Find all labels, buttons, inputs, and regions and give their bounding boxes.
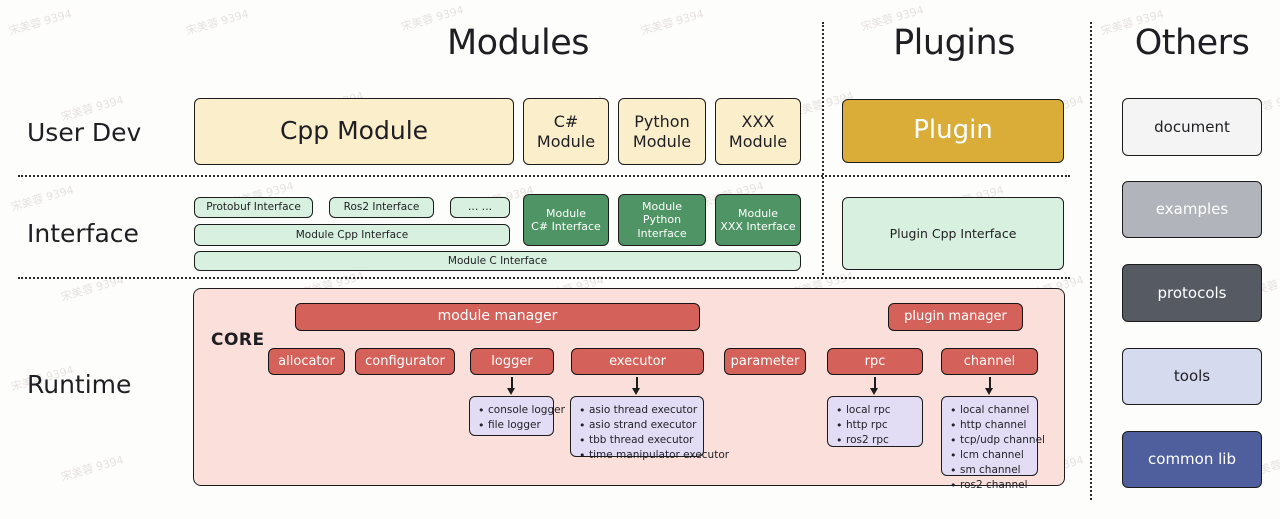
list-item: tcp/udp channel <box>948 433 1029 448</box>
list-item: asio thread executor <box>577 403 695 418</box>
list-item: local rpc <box>834 403 914 418</box>
xxx-module-box[interactable]: XXX Module <box>715 98 801 165</box>
watermark: 宋美蓉 9394 <box>9 181 75 214</box>
horizontal-divider-interface-runtime <box>18 277 1070 279</box>
list-item: http channel <box>948 418 1029 433</box>
module-csharp-interface-line1: Module <box>546 207 586 220</box>
module-cpp-interface-box[interactable]: Module Cpp Interface <box>194 224 510 246</box>
ellipsis-interface-box[interactable]: … … <box>450 197 510 218</box>
protobuf-interface-box[interactable]: Protobuf Interface <box>194 197 313 218</box>
list-item: lcm channel <box>948 448 1029 463</box>
csharp-module-label-line1: C# <box>554 112 579 131</box>
module-python-interface-box[interactable]: Module Python Interface <box>618 194 706 246</box>
module-xxx-interface-line2: XXX Interface <box>720 220 795 233</box>
configurator-box[interactable]: configurator <box>355 348 455 375</box>
ros2-interface-box[interactable]: Ros2 Interface <box>329 197 434 218</box>
module-c-interface-box[interactable]: Module C Interface <box>194 251 801 271</box>
list-item: time manipulator executor <box>577 448 695 463</box>
list-item: console logger <box>476 403 545 418</box>
horizontal-divider-userdev-interface <box>18 175 1070 177</box>
plugin-box[interactable]: Plugin <box>842 99 1064 163</box>
others-tools-box[interactable]: tools <box>1122 348 1262 405</box>
module-python-interface-line2: Python Interface <box>637 213 686 239</box>
module-python-interface-line1: Module <box>642 200 682 213</box>
module-csharp-interface-box[interactable]: Module C# Interface <box>523 194 609 246</box>
executor-box[interactable]: executor <box>571 348 704 375</box>
watermark: 宋美蓉 9394 <box>59 451 125 484</box>
column-heading-plugins: Plugins <box>838 23 1070 63</box>
list-item: file logger <box>476 418 545 433</box>
parameter-box[interactable]: parameter <box>724 348 806 375</box>
column-heading-modules: Modules <box>348 23 688 63</box>
python-module-box[interactable]: Python Module <box>618 98 706 165</box>
row-label-interface: Interface <box>27 219 139 248</box>
core-label: CORE <box>211 330 265 350</box>
others-document-box[interactable]: document <box>1122 98 1262 156</box>
list-item: ros2 rpc <box>834 433 914 448</box>
python-module-label-line2: Module <box>633 132 691 151</box>
module-xxx-interface-box[interactable]: Module XXX Interface <box>715 194 801 246</box>
allocator-box[interactable]: allocator <box>268 348 345 375</box>
list-item: sm channel <box>948 463 1029 478</box>
architecture-diagram: 宋美蓉 9394 宋美蓉 9394 宋美蓉 9394 宋美蓉 9394 宋美蓉 … <box>0 0 1280 519</box>
vertical-divider-modules-plugins <box>822 22 824 275</box>
others-common-lib-box[interactable]: common lib <box>1122 431 1262 488</box>
module-manager-box[interactable]: module manager <box>295 303 700 331</box>
module-xxx-interface-line1: Module <box>738 207 778 220</box>
watermark: 宋美蓉 9394 <box>184 5 250 38</box>
list-item: http rpc <box>834 418 914 433</box>
logger-details-box: console logger file logger <box>469 396 554 436</box>
logger-arrow-icon <box>505 377 519 397</box>
list-item: asio strand executor <box>577 418 695 433</box>
list-item: local channel <box>948 403 1029 418</box>
executor-details-box: asio thread executor asio strand executo… <box>570 396 704 457</box>
row-label-runtime: Runtime <box>27 370 131 399</box>
python-module-label-line1: Python <box>634 112 689 131</box>
logger-box[interactable]: logger <box>470 348 554 375</box>
plugin-manager-box[interactable]: plugin manager <box>888 303 1023 331</box>
module-csharp-interface-line2: C# Interface <box>531 220 601 233</box>
rpc-arrow-icon <box>868 377 882 397</box>
watermark: 宋美蓉 9394 <box>7 5 73 38</box>
cpp-module-box[interactable]: Cpp Module <box>194 98 514 165</box>
list-item: tbb thread executor <box>577 433 695 448</box>
channel-box[interactable]: channel <box>941 348 1038 375</box>
others-examples-box[interactable]: examples <box>1122 181 1262 238</box>
others-protocols-box[interactable]: protocols <box>1122 264 1262 322</box>
list-item: ros2 channel <box>948 478 1029 493</box>
rpc-details-box: local rpc http rpc ros2 rpc <box>827 396 923 447</box>
csharp-module-box[interactable]: C# Module <box>523 98 609 165</box>
csharp-module-label-line2: Module <box>537 132 595 151</box>
channel-details-box: local channel http channel tcp/udp chann… <box>941 396 1038 476</box>
plugin-cpp-interface-box[interactable]: Plugin Cpp Interface <box>842 197 1064 270</box>
vertical-divider-plugins-others <box>1090 22 1092 500</box>
rpc-box[interactable]: rpc <box>827 348 923 375</box>
xxx-module-label-line2: Module <box>729 132 787 151</box>
row-label-user-dev: User Dev <box>27 118 141 147</box>
column-heading-others: Others <box>1108 23 1276 63</box>
xxx-module-label-line1: XXX <box>742 112 775 131</box>
executor-arrow-icon <box>630 377 644 397</box>
channel-arrow-icon <box>983 377 997 397</box>
